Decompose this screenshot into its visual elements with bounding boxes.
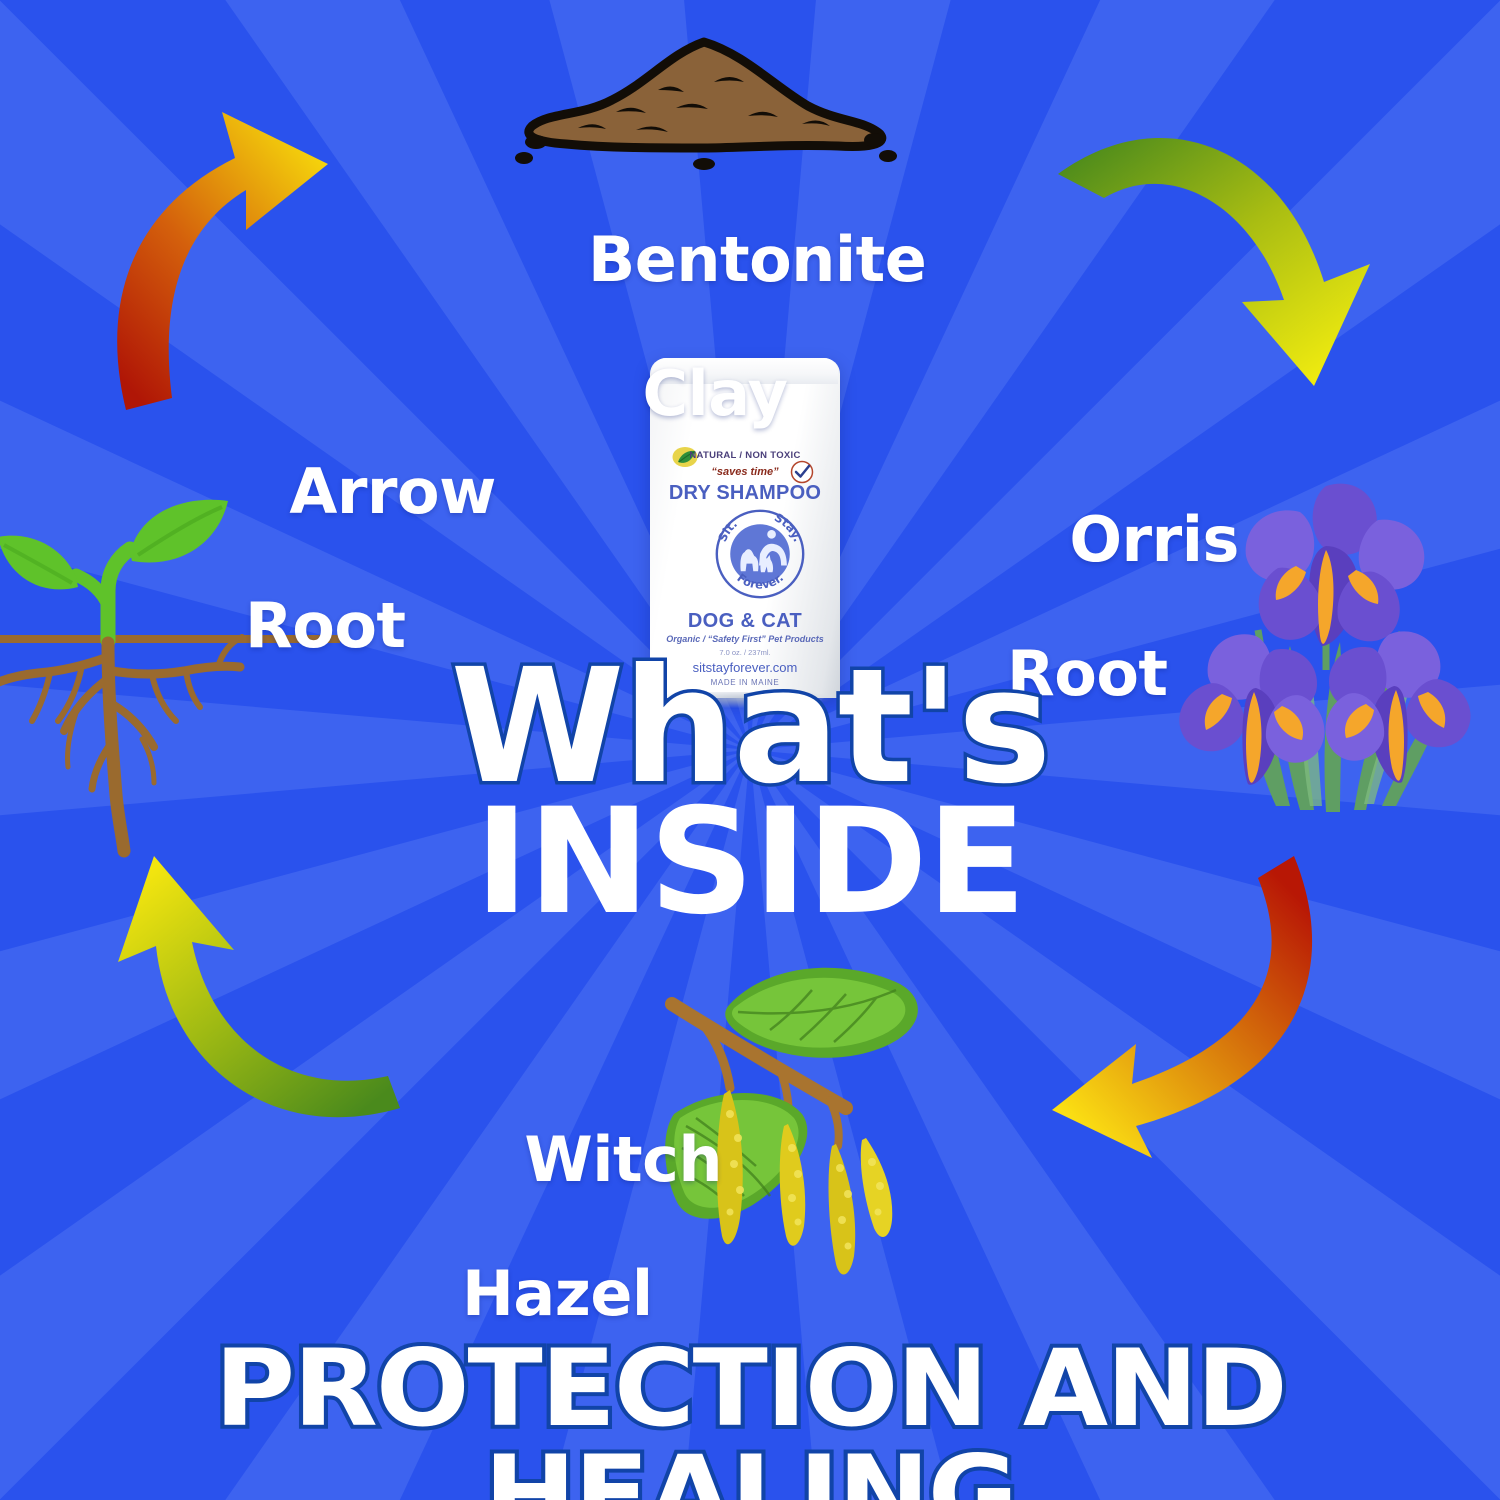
ingredient-label-line2: Root bbox=[985, 641, 1345, 708]
ingredient-label-line1: Bentonite bbox=[588, 223, 926, 296]
ingredient-label-line1: Arrow bbox=[289, 455, 496, 528]
ingredient-label-line2: Hazel bbox=[440, 1261, 800, 1328]
arrow-top-left bbox=[60, 90, 390, 420]
label-made-in-maine: MADE IN MAINE bbox=[650, 678, 840, 687]
arrow-bottom-right bbox=[1040, 838, 1380, 1168]
arrow-bottom-left bbox=[100, 846, 440, 1186]
arrow-top-right bbox=[1052, 86, 1392, 416]
label-website: sitstayforever.com bbox=[650, 660, 840, 675]
ingredient-label-line1: Orris bbox=[1069, 503, 1239, 576]
ingredient-label-line1: Witch bbox=[524, 1123, 722, 1196]
ingredient-label-line2: Root bbox=[205, 593, 565, 660]
clay-mound-icon bbox=[508, 24, 900, 174]
ingredient-label-orris-root: Orris Root bbox=[985, 440, 1345, 842]
bottom-banner: PROTECTION AND HEALING bbox=[0, 1336, 1500, 1500]
label-organic-tagline: Organic / “Safety First” Pet Products bbox=[650, 634, 840, 644]
bottle-shadow bbox=[658, 692, 832, 708]
label-dog-and-cat: DOG & CAT bbox=[650, 610, 840, 633]
label-net-size: 7.0 oz. / 237ml. bbox=[650, 648, 840, 657]
ingredient-label-arrow-root: Arrow Root bbox=[205, 392, 565, 794]
banner-text: PROTECTION AND HEALING bbox=[0, 1336, 1500, 1500]
infographic-poster: NATURAL / NON TOXIC “saves time” DRY SHA… bbox=[0, 0, 1500, 1500]
